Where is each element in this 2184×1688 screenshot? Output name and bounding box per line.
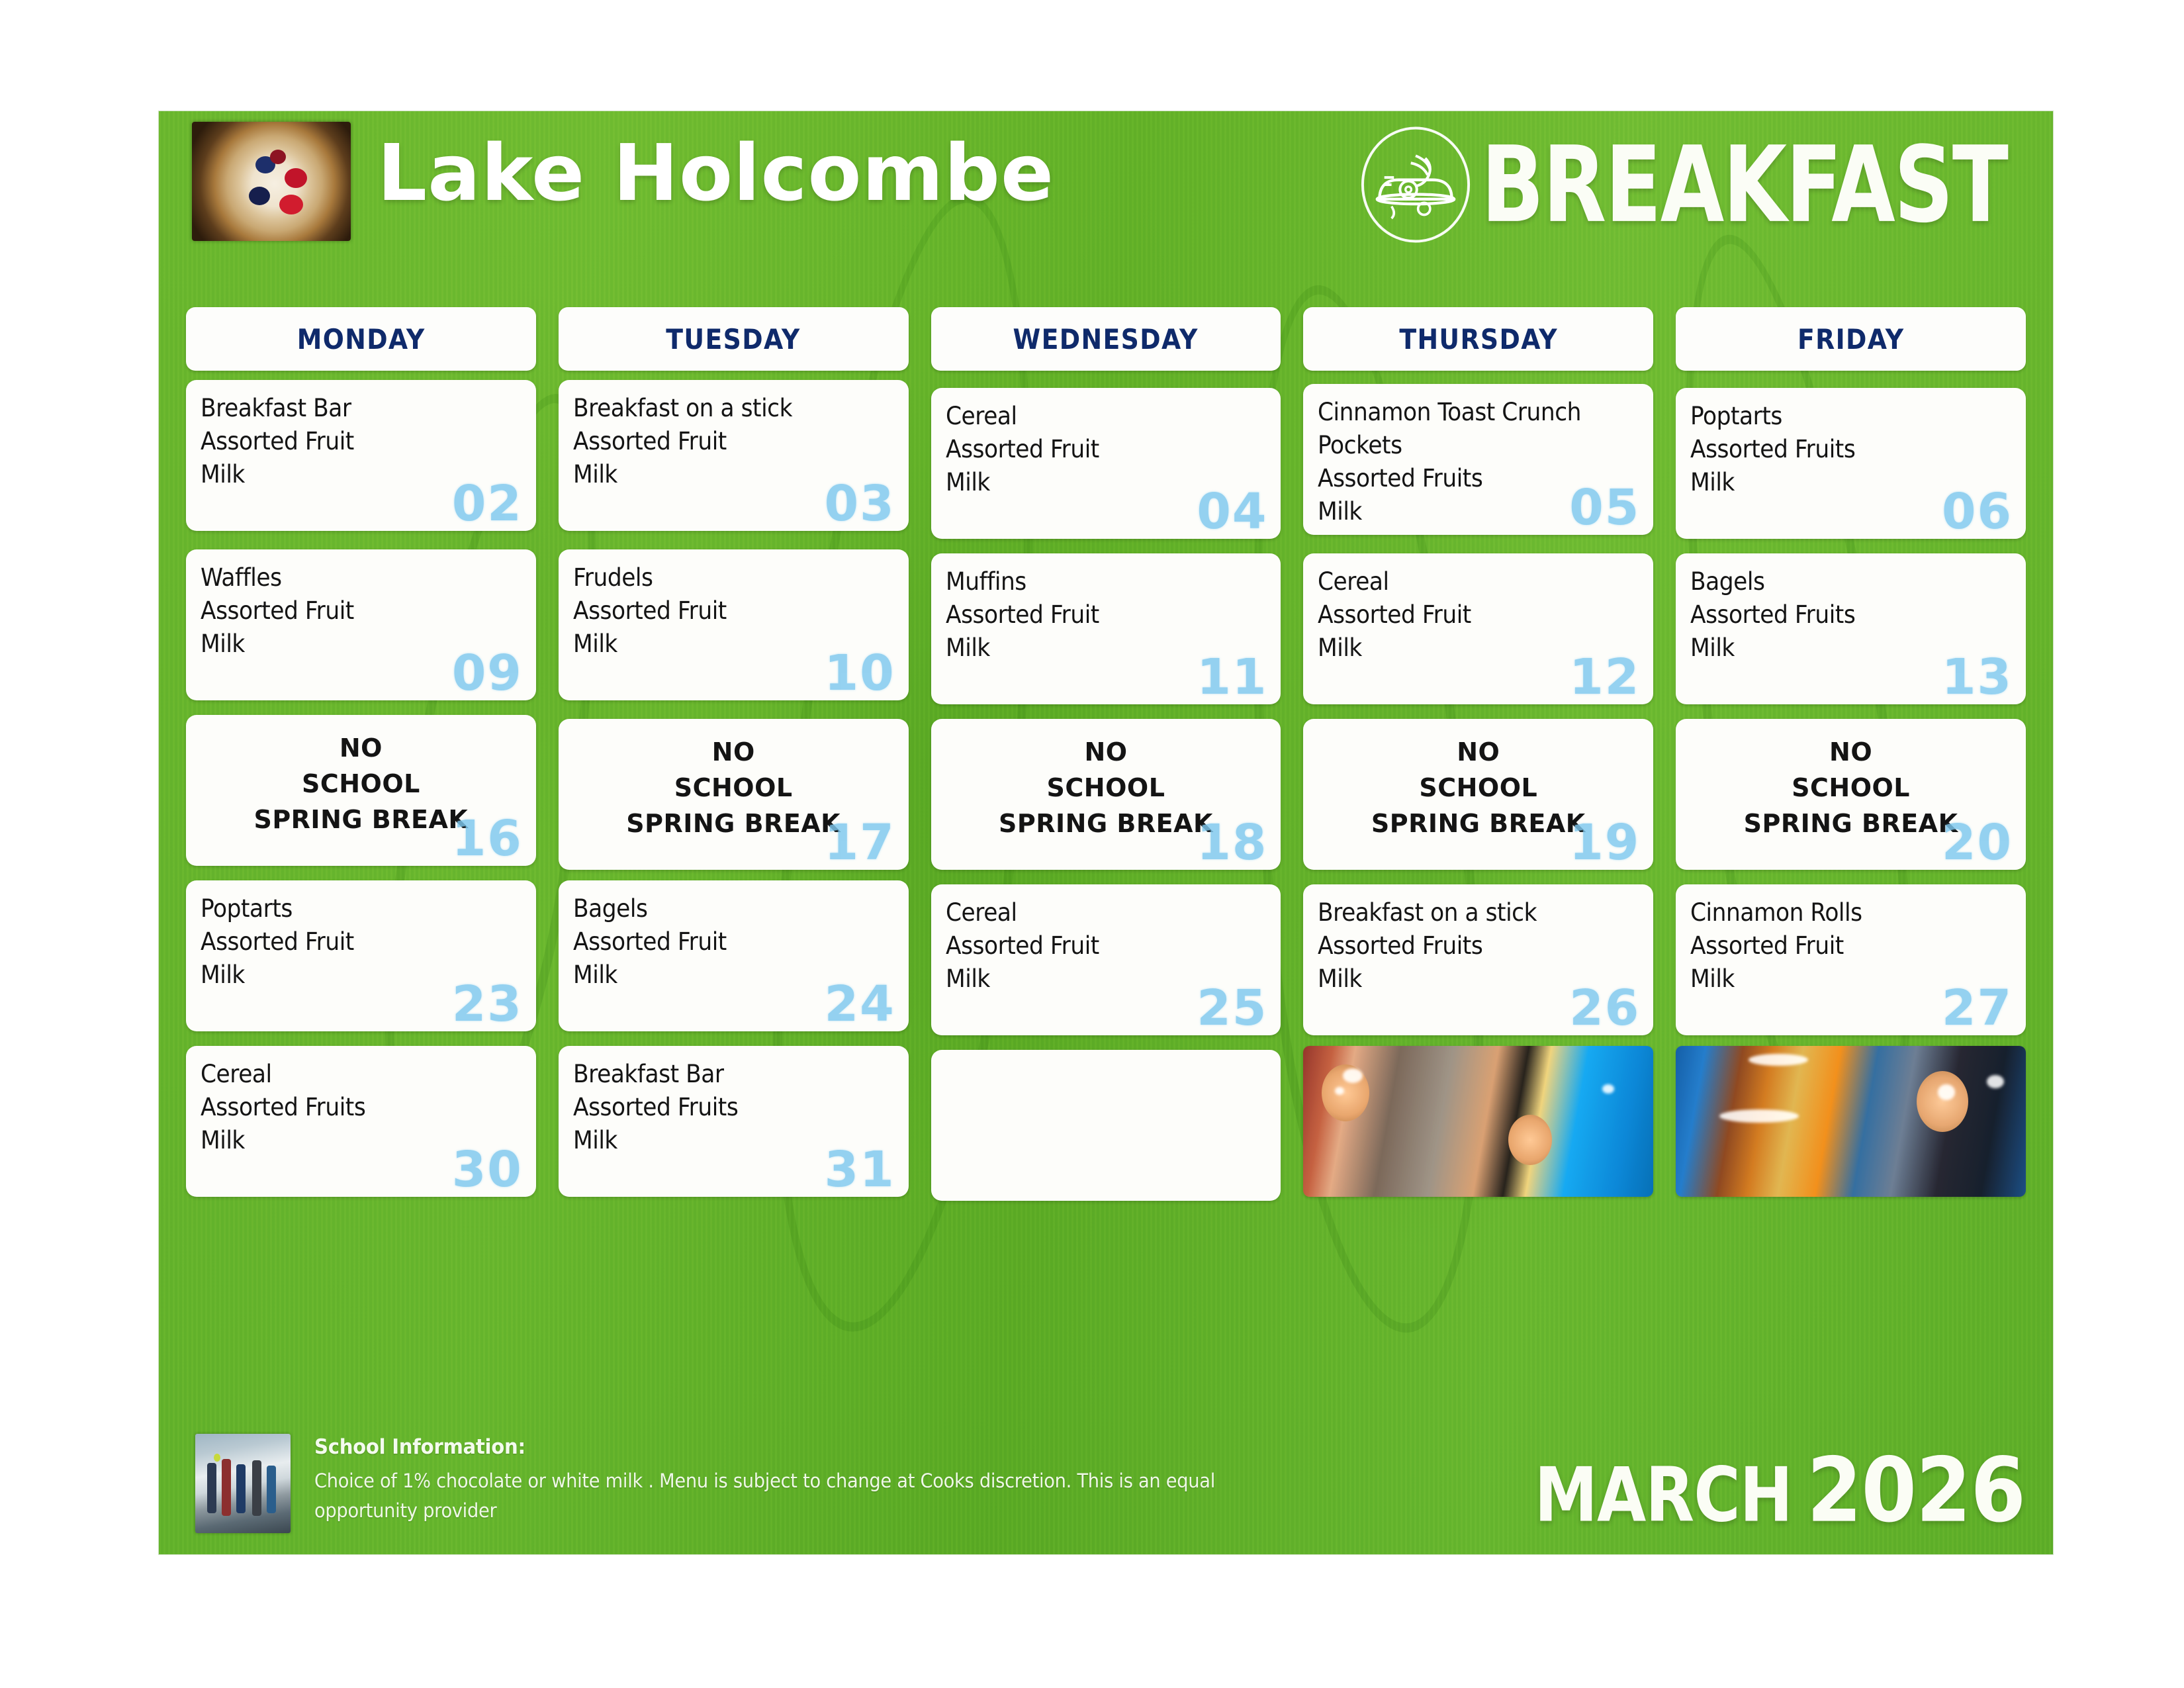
day-number: 03: [825, 479, 895, 528]
day-number: 31: [825, 1145, 895, 1194]
day-header-label: FRIDAY: [1797, 323, 1904, 355]
menu-item-line: Assorted Fruits: [573, 1091, 876, 1124]
menu-item-line: Breakfast on a stick: [573, 392, 876, 425]
menu-item-line: Cinnamon Rolls: [1690, 896, 1993, 929]
menu-item-line: Breakfast Bar: [573, 1058, 876, 1091]
calendar-day-cell[interactable]: WafflesAssorted FruitMilk 09: [186, 549, 536, 700]
menu-item-line: NO: [1303, 735, 1653, 771]
calendar-week-row: PoptartsAssorted FruitMilk 23 BagelsAsso…: [175, 880, 2037, 1035]
students-outside-school-photo: [195, 1434, 291, 1533]
day-header-label: MONDAY: [296, 323, 425, 355]
day-header-wednesday: WEDNESDAY: [931, 307, 1281, 371]
day-number: 12: [1569, 653, 1640, 702]
day-number: 30: [452, 1145, 523, 1194]
menu-item-line: SCHOOL: [186, 767, 536, 802]
menu-item-line: Assorted Fruit: [1690, 929, 1993, 962]
calendar-day-cell[interactable]: NOSCHOOLSPRING BREAK 19: [1303, 719, 1653, 870]
month-year-label: MARCH 2026: [1534, 1456, 2025, 1536]
breakfast-badge: BREAKFAST: [1355, 124, 2029, 245]
menu-item-line: Assorted Fruit: [1318, 598, 1621, 632]
day-number: 23: [452, 980, 523, 1029]
day-header-col: FRIDAY: [1664, 307, 2037, 371]
day-number: 11: [1197, 653, 1267, 702]
menu-item-line: Assorted Fruit: [946, 433, 1249, 466]
menu-item-line: Frudels: [573, 561, 876, 594]
menu-item-line: Breakfast on a stick: [1318, 896, 1621, 929]
calendar-day-cell[interactable]: NOSCHOOLSPRING BREAK 16: [186, 715, 536, 866]
calendar-day-cell[interactable]: CerealAssorted FruitsMilk 30: [186, 1046, 536, 1197]
calendar-day-cell[interactable]: MuffinsAssorted FruitMilk 11: [931, 553, 1281, 704]
cereal-bowl-photo: [192, 122, 351, 241]
day-number: 06: [1942, 487, 2013, 536]
menu-item-line: Cereal: [201, 1058, 504, 1091]
menu-item-line: Muffins: [946, 565, 1249, 598]
school-info-body: Choice of 1% chocolate or white milk . M…: [314, 1466, 1285, 1526]
menu-item-line: Waffles: [201, 561, 504, 594]
calendar-week-row: NOSCHOOLSPRING BREAK 16 NOSCHOOLSPRING B…: [175, 715, 2037, 870]
calendar-day-cell[interactable]: Cinnamon RollsAssorted FruitMilk 27: [1676, 884, 2026, 1035]
day-number: 26: [1569, 984, 1640, 1033]
calendar-day-cell[interactable]: BagelsAssorted FruitsMilk 13: [1676, 553, 2026, 704]
calendar-day-cell[interactable]: Cinnamon Toast CrunchPocketsAssorted Fru…: [1303, 384, 1653, 535]
menu-item-line: Poptarts: [1690, 400, 1993, 433]
classroom-student-at-desk-photo: [1676, 1046, 2026, 1197]
day-header-thursday: THURSDAY: [1303, 307, 1653, 371]
menu-item-line: Bagels: [1690, 565, 1993, 598]
meal-label: BREAKFAST: [1481, 132, 2007, 238]
menu-item-line: NO: [559, 735, 909, 771]
day-number: 27: [1942, 984, 2013, 1033]
calendar-day-cell[interactable]: BagelsAssorted FruitMilk 24: [559, 880, 909, 1031]
day-number: 17: [825, 818, 895, 867]
breakfast-tray-icon: [1355, 124, 1476, 245]
menu-item-line: Cereal: [1318, 565, 1621, 598]
menu-item-line: Pockets: [1318, 429, 1621, 462]
menu-calendar-grid: MONDAY TUESDAY WEDNESDAY THURSDAY FRIDAY…: [175, 307, 2037, 1211]
menu-item-line: Assorted Fruits: [1318, 929, 1621, 962]
calendar-day-cell[interactable]: FrudelsAssorted FruitMilk 10: [559, 549, 909, 700]
menu-item-line: Cinnamon Toast Crunch: [1318, 396, 1621, 429]
menu-item-line: Assorted Fruit: [946, 598, 1249, 632]
day-header-col: MONDAY: [175, 307, 547, 371]
day-number: 10: [825, 649, 895, 698]
year-label: 2026: [1807, 1447, 2025, 1536]
day-header-tuesday: TUESDAY: [559, 307, 909, 371]
calendar-day-cell[interactable]: NOSCHOOLSPRING BREAK 20: [1676, 719, 2026, 870]
calendar-day-cell[interactable]: Breakfast BarAssorted FruitsMilk 31: [559, 1046, 909, 1197]
menu-item-line: Assorted Fruit: [573, 425, 876, 458]
day-number: 16: [452, 814, 523, 863]
calendar-week-row: CerealAssorted FruitsMilk 30 Breakfast B…: [175, 1046, 2037, 1201]
day-header-row: MONDAY TUESDAY WEDNESDAY THURSDAY FRIDAY: [175, 307, 2037, 371]
menu-item-line: Breakfast Bar: [201, 392, 504, 425]
day-header-col: TUESDAY: [547, 307, 920, 371]
calendar-week-row: Breakfast BarAssorted FruitMilk 02 Break…: [175, 380, 2037, 539]
calendar-day-cell[interactable]: CerealAssorted FruitMilk 12: [1303, 553, 1653, 704]
calendar-day-cell[interactable]: NOSCHOOLSPRING BREAK 18: [931, 719, 1281, 870]
day-number: 18: [1197, 818, 1267, 867]
calendar-day-cell[interactable]: Breakfast on a stickAssorted FruitsMilk …: [1303, 884, 1653, 1035]
menu-item-line: Poptarts: [201, 892, 504, 925]
menu-item-line: NO: [1676, 735, 2026, 771]
menu-item-line: Assorted Fruit: [201, 425, 504, 458]
day-header-label: WEDNESDAY: [1013, 323, 1199, 355]
day-header-label: TUESDAY: [666, 323, 801, 355]
menu-item-line: Assorted Fruit: [946, 929, 1249, 962]
menu-item-line: NO: [931, 735, 1281, 771]
menu-item-line: Bagels: [573, 892, 876, 925]
day-number: 24: [825, 980, 895, 1029]
day-number: 09: [452, 649, 523, 698]
menu-item-line: Assorted Fruit: [573, 594, 876, 628]
menu-item-line: SCHOOL: [559, 771, 909, 806]
day-header-label: THURSDAY: [1399, 323, 1558, 355]
menu-item-line: Assorted Fruit: [201, 925, 504, 959]
day-number: 05: [1569, 483, 1640, 532]
page-title: Lake Holcombe: [377, 127, 1054, 218]
calendar-week-row: WafflesAssorted FruitMilk 09 FrudelsAsso…: [175, 549, 2037, 704]
day-number: 20: [1942, 818, 2013, 867]
menu-item-line: Assorted Fruit: [201, 594, 504, 628]
calendar-day-cell[interactable]: PoptartsAssorted FruitMilk 23: [186, 880, 536, 1031]
day-header-col: WEDNESDAY: [920, 307, 1293, 371]
menu-item-line: Cereal: [946, 400, 1249, 433]
menu-item-line: Assorted Fruits: [201, 1091, 504, 1124]
classroom-students-raising-hands-photo: [1303, 1046, 1653, 1197]
calendar-day-cell[interactable]: NOSCHOOLSPRING BREAK 17: [559, 719, 909, 870]
menu-item-line: Assorted Fruits: [1690, 433, 1993, 466]
menu-item-line: Assorted Fruit: [573, 925, 876, 959]
day-header-monday: MONDAY: [186, 307, 536, 371]
school-info-title: School Information:: [314, 1435, 1285, 1459]
calendar-day-cell-empty[interactable]: [931, 1050, 1281, 1201]
calendar-day-cell[interactable]: Breakfast BarAssorted FruitMilk 02: [186, 380, 536, 531]
school-information: School Information: Choice of 1% chocola…: [314, 1435, 1347, 1526]
day-number: 19: [1569, 818, 1640, 867]
month-label: MARCH: [1534, 1458, 1792, 1532]
menu-item-line: Cereal: [946, 896, 1249, 929]
day-number: 04: [1197, 487, 1267, 536]
calendar-day-cell[interactable]: Breakfast on a stickAssorted FruitMilk 0…: [559, 380, 909, 531]
menu-item-line: SCHOOL: [1676, 771, 2026, 806]
calendar-day-cell[interactable]: CerealAssorted FruitMilk 04: [931, 388, 1281, 539]
menu-item-line: SCHOOL: [931, 771, 1281, 806]
day-number: 25: [1197, 984, 1267, 1033]
menu-item-line: SCHOOL: [1303, 771, 1653, 806]
calendar-day-cell[interactable]: CerealAssorted FruitMilk 25: [931, 884, 1281, 1035]
menu-item-line: NO: [186, 731, 536, 767]
day-header-friday: FRIDAY: [1676, 307, 2026, 371]
calendar-day-cell[interactable]: PoptartsAssorted FruitsMilk 06: [1676, 388, 2026, 539]
menu-item-line: Assorted Fruits: [1690, 598, 1993, 632]
day-header-col: THURSDAY: [1292, 307, 1664, 371]
day-number: 13: [1942, 653, 2013, 702]
menu-poster: Lake Holcombe BREAKFAST MONDAY TUESDAY: [159, 111, 2053, 1554]
poster-header: Lake Holcombe BREAKFAST: [159, 111, 2053, 310]
poster-footer: School Information: Choice of 1% chocola…: [159, 1422, 2053, 1554]
day-number: 02: [452, 479, 523, 528]
